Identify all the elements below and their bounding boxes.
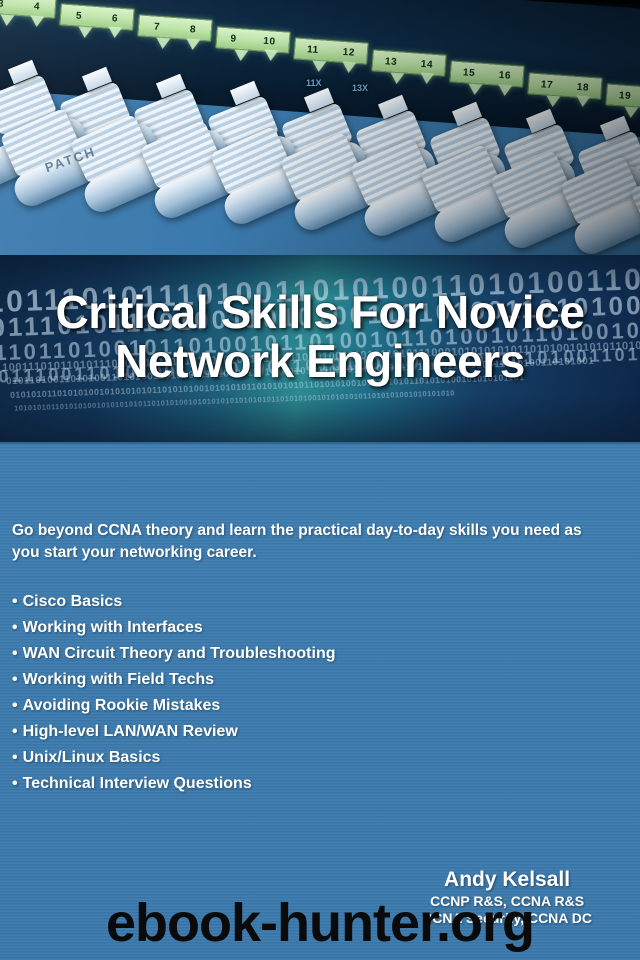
bullet-dot-icon: •: [12, 619, 18, 636]
patch-panel-photo: 34567891011121314151617181920212211X13X …: [0, 0, 640, 262]
feature-bullet-label: Technical Interview Questions: [23, 775, 252, 792]
patch-port-number: 12: [342, 46, 355, 58]
patch-port-number: 7: [154, 21, 161, 32]
bullet-dot-icon: •: [12, 749, 18, 766]
patch-port-number: 10: [263, 35, 276, 47]
bullet-dot-icon: •: [12, 697, 18, 714]
feature-bullet-item: •Technical Interview Questions: [12, 776, 336, 792]
port-indicator-triangle-icon: [0, 15, 14, 27]
feature-bullet-label: WAN Circuit Theory and Troubleshooting: [23, 645, 336, 662]
author-credentials-line-1: CCNP R&S, CCNA R&S: [422, 893, 592, 910]
feature-bullet-list: •Cisco Basics•Working with Interfaces•WA…: [12, 594, 336, 802]
feature-bullet-label: High-level LAN/WAN Review: [23, 723, 238, 740]
feature-bullet-label: Working with Interfaces: [23, 619, 203, 636]
feature-bullet-item: •Avoiding Rookie Mistakes: [12, 698, 336, 714]
patch-port-number: 8: [190, 24, 197, 35]
feature-bullet-label: Unix/Linux Basics: [23, 749, 161, 766]
bullet-dot-icon: •: [12, 671, 18, 688]
feature-bullet-item: •Working with Interfaces: [12, 620, 336, 636]
port-indicator-triangle-icon: [108, 27, 123, 39]
feature-bullet-item: •WAN Circuit Theory and Troubleshooting: [12, 646, 336, 662]
ethernet-cable-bundle: [0, 58, 640, 262]
title-line-1: Critical Skills For Novice: [55, 286, 584, 338]
port-indicator-triangle-icon: [78, 26, 93, 38]
author-name: Andy Kelsall: [422, 868, 592, 892]
port-indicator-triangle-icon: [186, 38, 201, 50]
panel-top-divider: [0, 442, 640, 444]
port-indicator-triangle-icon: [30, 15, 45, 27]
feature-bullet-item: •Unix/Linux Basics: [12, 750, 336, 766]
bullet-dot-icon: •: [12, 645, 18, 662]
author-block: Andy Kelsall CCNP R&S, CCNA R&S CCNA Sec…: [422, 868, 592, 927]
patch-port-number: 9: [230, 32, 237, 43]
patch-port-number: 11: [307, 44, 319, 56]
cover-title: Critical Skills For Novice Network Engin…: [0, 288, 640, 386]
title-line-2: Network Engineers: [14, 337, 626, 386]
patch-port-number: 3: [0, 0, 4, 9]
feature-bullet-label: Cisco Basics: [23, 593, 123, 610]
bullet-dot-icon: •: [12, 593, 18, 610]
port-indicator-triangle-icon: [156, 38, 171, 50]
feature-bullet-item: •Cisco Basics: [12, 594, 336, 610]
bullet-dot-icon: •: [12, 723, 18, 740]
patch-port-number: 4: [34, 1, 41, 12]
bullet-dot-icon: •: [12, 775, 18, 792]
lower-panel: Go beyond CCNA theory and learn the prac…: [0, 442, 640, 960]
feature-bullet-item: •Working with Field Techs: [12, 672, 336, 688]
feature-bullet-label: Avoiding Rookie Mistakes: [23, 697, 221, 714]
author-credentials-line-2: CCNA Security, CCNA DC: [422, 910, 592, 927]
cover-subtitle: Go beyond CCNA theory and learn the prac…: [12, 520, 598, 564]
patch-port-label: 910: [215, 26, 290, 53]
patch-port-number: 5: [76, 9, 83, 20]
patch-port-label: 56: [59, 3, 134, 30]
patch-port-number: 6: [112, 12, 119, 23]
feature-bullet-item: •High-level LAN/WAN Review: [12, 724, 336, 740]
book-cover: 34567891011121314151617181920212211X13X …: [0, 0, 640, 960]
feature-bullet-label: Working with Field Techs: [23, 671, 214, 688]
patch-port-label: 78: [137, 14, 212, 41]
